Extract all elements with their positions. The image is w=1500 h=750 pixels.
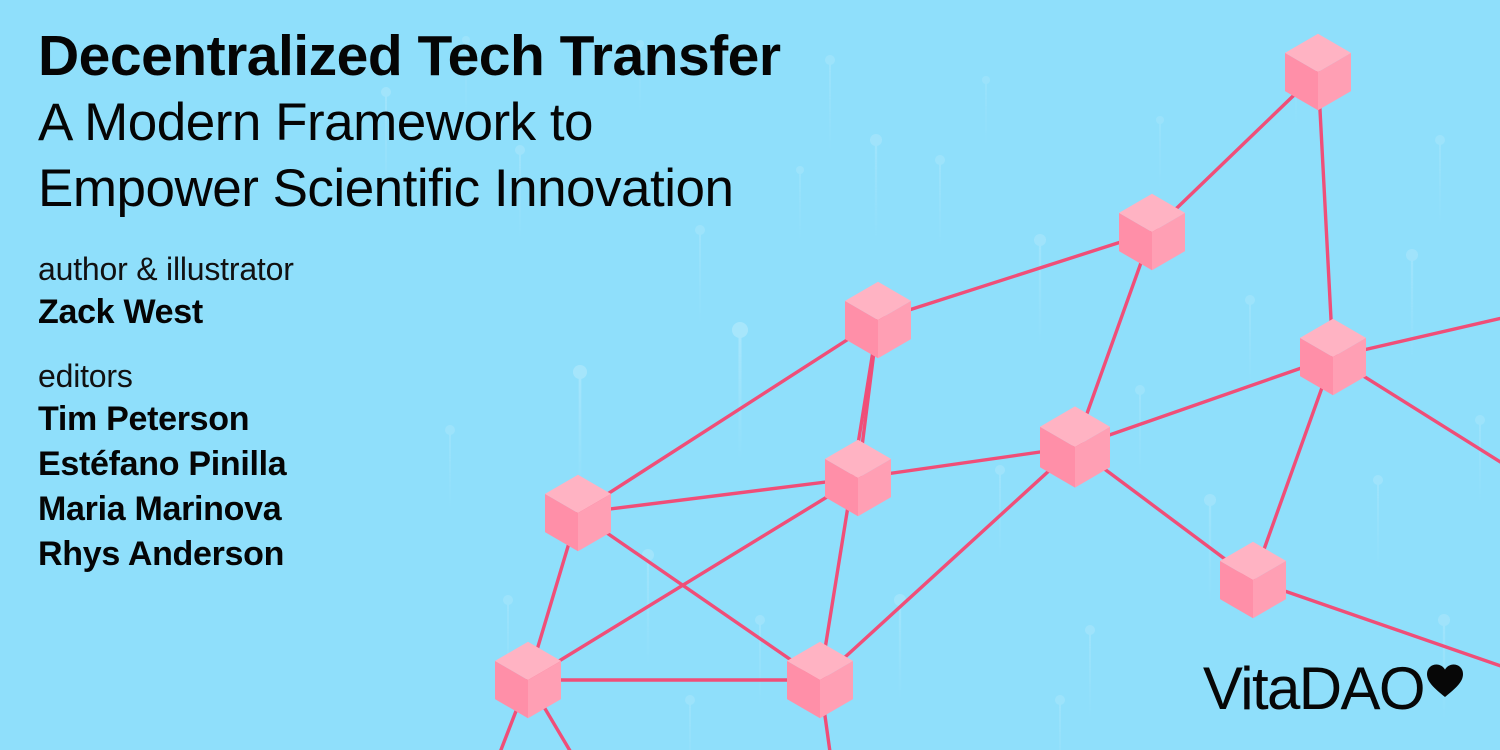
credit-name: Tim Peterson: [38, 397, 958, 442]
heart-icon: [1426, 664, 1464, 698]
title-line-1: Decentralized Tech Transfer: [38, 22, 958, 90]
network-node-cube: [1285, 34, 1351, 111]
title-line-3: Empower Scientific Innovation: [38, 156, 958, 222]
network-node-cube: [1220, 542, 1286, 619]
credit-role: editors: [38, 355, 958, 397]
credit-name: Rhys Anderson: [38, 532, 958, 577]
credits-group: editorsTim PetersonEstéfano PinillaMaria…: [38, 355, 958, 577]
network-node-cube: [1300, 319, 1366, 396]
credit-name: Estéfano Pinilla: [38, 442, 958, 487]
network-node-cube: [495, 642, 561, 719]
title-block: Decentralized Tech Transfer A Modern Fra…: [38, 22, 958, 577]
vitadao-logo[interactable]: VitaDAO: [1203, 658, 1464, 720]
cover-artwork: Decentralized Tech Transfer A Modern Fra…: [0, 0, 1500, 750]
credit-name: Maria Marinova: [38, 487, 958, 532]
credits-group: author & illustratorZack West: [38, 248, 958, 335]
credit-role: author & illustrator: [38, 248, 958, 290]
network-node-cube: [787, 642, 853, 719]
credit-name: Zack West: [38, 290, 958, 335]
network-node-cube: [1040, 406, 1110, 487]
vitadao-logo-text: VitaDAO: [1203, 658, 1424, 720]
network-edge: [1075, 357, 1333, 447]
network-edge: [1152, 72, 1318, 232]
network-edge: [1318, 72, 1333, 357]
network-node-cube: [1119, 194, 1185, 271]
credits-block: author & illustratorZack WesteditorsTim …: [38, 248, 958, 577]
network-edge: [1253, 357, 1333, 580]
title-line-2: A Modern Framework to: [38, 90, 958, 156]
